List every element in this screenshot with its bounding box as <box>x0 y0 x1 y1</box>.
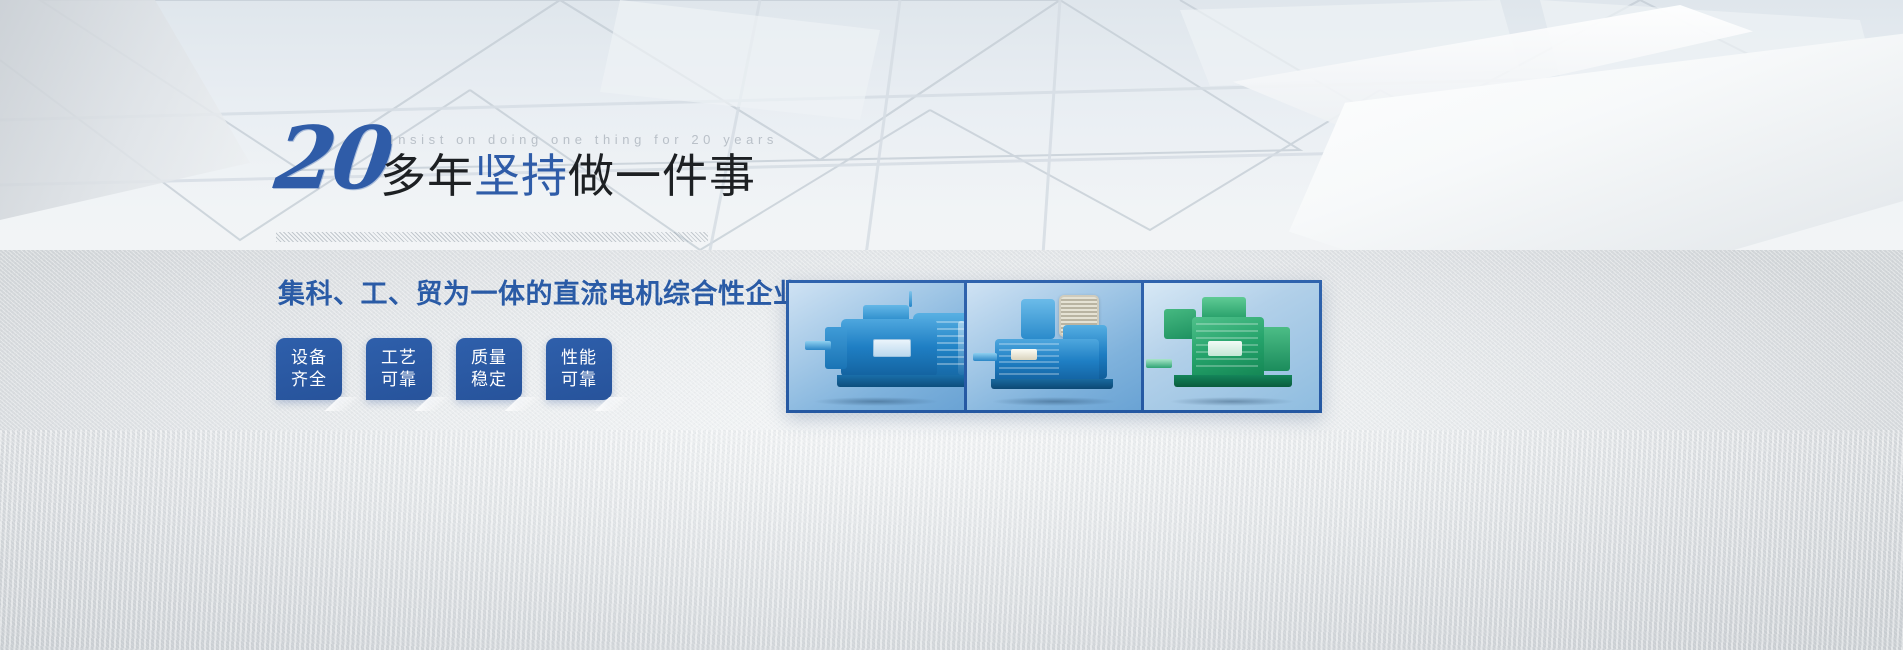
headline-suffix: 做一件事 <box>568 150 756 202</box>
years-number: 20 <box>271 116 395 202</box>
feature-badge-equipment[interactable]: 设备 齐全 <box>276 338 342 400</box>
product-image-dc-motor-blue-with-filter[interactable] <box>967 283 1142 410</box>
headline-row: 20 Insist on doing one thing for 20 year… <box>276 120 796 206</box>
motor-shaft <box>1146 359 1172 368</box>
headline-chinese: 多年坚持做一件事 <box>380 150 756 202</box>
badge-line-2: 稳定 <box>471 369 507 391</box>
motor-nameplate <box>1011 349 1037 360</box>
product-image-dc-motor-green-gearbox[interactable] <box>1144 283 1319 410</box>
feature-badge-list: 设备 齐全 工艺 可靠 质量 稳定 性能 可靠 <box>276 338 612 400</box>
hero-banner: 20 Insist on doing one thing for 20 year… <box>0 0 1903 650</box>
badge-line-2: 可靠 <box>561 369 597 391</box>
badge-line-1: 质量 <box>471 347 507 369</box>
headline-prefix: 多年 <box>380 150 474 202</box>
motor-drum <box>1021 299 1055 339</box>
motor-shaft <box>805 341 831 350</box>
motor-shadow <box>813 397 939 406</box>
motor-nameplate <box>873 339 911 357</box>
product-image-panel <box>786 280 1322 413</box>
english-tagline: Insist on doing one thing for 20 years <box>390 132 778 147</box>
badge-line-1: 性能 <box>561 347 597 369</box>
badge-line-1: 工艺 <box>381 347 417 369</box>
badge-line-2: 齐全 <box>291 369 327 391</box>
floor-texture <box>0 430 1903 650</box>
hero-copy-block: 20 Insist on doing one thing for 20 year… <box>276 120 796 206</box>
badge-line-1: 设备 <box>291 347 327 369</box>
motor-base <box>837 375 964 387</box>
motor-shadow <box>1169 397 1295 406</box>
subheading: 集科、工、贸为一体的直流电机综合性企业 <box>278 272 801 311</box>
motor-base <box>991 379 1113 389</box>
motor-nameplate <box>1208 341 1242 356</box>
feature-badge-quality[interactable]: 质量 稳定 <box>456 338 522 400</box>
motor-shaft <box>973 353 997 361</box>
motor-base <box>1174 375 1292 387</box>
hatched-divider <box>276 232 708 242</box>
motor-antenna <box>909 291 912 307</box>
feature-badge-craft[interactable]: 工艺 可靠 <box>366 338 432 400</box>
motor-shadow <box>991 397 1117 406</box>
product-image-dc-motor-blue-large[interactable] <box>789 283 964 410</box>
badge-line-2: 可靠 <box>381 369 417 391</box>
headline-highlight: 坚持 <box>474 150 568 202</box>
feature-badge-performance[interactable]: 性能 可靠 <box>546 338 612 400</box>
